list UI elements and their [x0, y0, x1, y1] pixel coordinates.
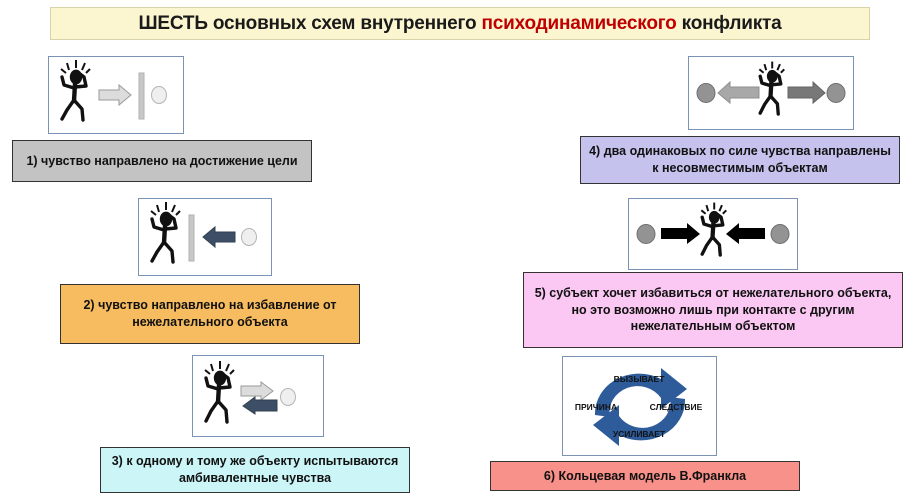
- object-circle-icon: [281, 389, 296, 406]
- dark-arrow-left-icon: [203, 227, 235, 247]
- barrier-icon: [189, 215, 194, 261]
- stick-figure-icon: [759, 62, 784, 114]
- object-circle-left-icon: [637, 225, 655, 244]
- scheme-2-diagram: [138, 198, 272, 276]
- cycle-label-top: ВЫЗЫВАЕТ: [614, 374, 666, 384]
- object-circle-icon: [152, 87, 167, 104]
- stick-figure-icon: [151, 202, 180, 262]
- gray-arrow-left-icon: [718, 82, 759, 103]
- scheme-3-diagram: [192, 355, 324, 437]
- scheme-3-caption: 3) к одному и тому же объекту испытывают…: [100, 447, 410, 493]
- scheme-4-diagram: [688, 56, 854, 130]
- scheme-4-svg: [689, 57, 853, 129]
- object-circle-left-icon: [697, 84, 715, 103]
- dark-arrow-left-icon: [243, 397, 277, 414]
- slide-title-banner: ШЕСТЬ основных схем внутреннего психодин…: [50, 7, 870, 40]
- stick-figure-icon: [61, 60, 90, 120]
- title-part-1: ШЕСТЬ: [139, 13, 208, 34]
- scheme-5-svg: [629, 199, 797, 269]
- title-part-3: конфликта: [677, 13, 782, 34]
- page-title: ШЕСТЬ основных схем внутреннего психодин…: [139, 13, 782, 35]
- scheme-3-svg: [193, 356, 323, 436]
- black-arrow-left-icon: [726, 223, 765, 244]
- object-circle-right-icon: [771, 225, 789, 244]
- gray-arrow-right-icon: [99, 85, 131, 105]
- scheme-5-diagram: [628, 198, 798, 270]
- scheme-6-caption: 6) Кольцевая модель В.Франкла: [490, 461, 800, 491]
- cycle-model-svg: ВЫЗЫВАЕТ ПРИЧИНА СЛЕДСТВИЕ УСИЛИВАЕТ: [563, 357, 716, 455]
- scheme-5-caption: 5) субъект хочет избавиться от нежелател…: [523, 272, 903, 348]
- slide-canvas: ШЕСТЬ основных схем внутреннего психодин…: [0, 0, 915, 501]
- scheme-4-caption: 4) два одинаковых по силе чувства направ…: [580, 136, 900, 184]
- cycle-label-left: ПРИЧИНА: [575, 402, 617, 412]
- object-circle-right-icon: [827, 84, 845, 103]
- black-arrow-right-icon: [661, 223, 700, 244]
- scheme-1-caption: 1) чувство направлено на достижение цели: [12, 140, 312, 182]
- scheme-2-svg: [139, 199, 271, 275]
- scheme-6-diagram: ВЫЗЫВАЕТ ПРИЧИНА СЛЕДСТВИЕ УСИЛИВАЕТ: [562, 356, 717, 456]
- stick-figure-icon: [205, 361, 234, 422]
- stick-figure-icon: [701, 203, 726, 255]
- scheme-2-caption: 2) чувство направлено на избавление от н…: [60, 284, 360, 344]
- scheme-1-diagram: [48, 56, 184, 134]
- cycle-label-right: СЛЕДСТВИЕ: [650, 402, 703, 412]
- object-circle-icon: [242, 229, 257, 246]
- gray-arrow-right-icon: [788, 82, 825, 103]
- cycle-label-bottom: УСИЛИВАЕТ: [613, 429, 666, 439]
- scheme-1-svg: [49, 57, 183, 133]
- title-part-2: основных схем внутреннего: [208, 13, 482, 34]
- title-highlight: психодинамического: [481, 13, 676, 34]
- light-arrow-right-icon: [241, 382, 273, 400]
- barrier-icon: [139, 73, 144, 119]
